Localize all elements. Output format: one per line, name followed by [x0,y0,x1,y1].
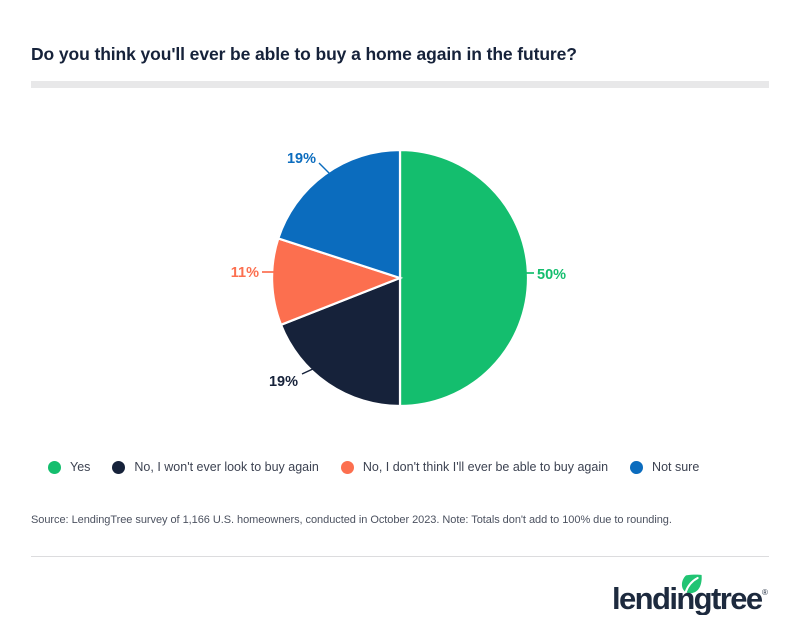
pie-label-yes: 50% [537,267,566,283]
legend-item-no-dont-think[interactable]: No, I don't think I'll ever be able to b… [341,461,608,474]
legend-swatch-icon-yes [48,461,61,474]
pie-leader-lines [262,163,534,379]
infographic-page: Do you think you'll ever be able to buy … [0,0,800,632]
lendingtree-logo-svg: lendingtree ® [612,573,772,615]
legend-label-no-dont-think: No, I don't think I'll ever be able to b… [363,461,608,474]
pie-label-no-wont-look: 19% [269,374,298,390]
logo-wordmark: lendingtree [612,581,763,615]
legend-item-no-wont-look[interactable]: No, I won't ever look to buy again [112,461,318,474]
pie-slice-no-dont-think[interactable] [272,238,400,324]
legend-label-not-sure: Not sure [652,461,699,474]
footer-divider [31,556,769,557]
legend-swatch-icon-no-wont-look [112,461,125,474]
pie-chart: 50% 19% 11% 19% [0,0,800,632]
header-divider [31,81,769,88]
leader-line-not-sure [319,163,334,178]
pie-slice-not-sure[interactable] [278,150,400,278]
page-title: Do you think you'll ever be able to buy … [31,44,577,65]
lendingtree-logo[interactable]: lendingtree ® [612,573,772,615]
pie-slice-no-wont-look[interactable] [281,278,400,406]
legend-swatch-icon-no-dont-think [341,461,354,474]
pie-slices [272,150,528,406]
legend-swatch-icon-not-sure [630,461,643,474]
pie-label-no-dont-think: 11% [231,265,259,281]
leader-line-no-wont-look [302,368,328,379]
pie-slice-yes[interactable] [400,150,528,406]
pie-chart-svg: 50% 19% 11% 19% [0,0,800,632]
legend-label-no-wont-look: No, I won't ever look to buy again [134,461,318,474]
legend-item-not-sure[interactable]: Not sure [630,461,699,474]
chart-legend: Yes No, I won't ever look to buy again N… [48,461,721,474]
logo-registered-mark: ® [762,588,768,597]
pie-value-labels: 50% 19% 11% 19% [231,151,566,390]
source-note: Source: LendingTree survey of 1,166 U.S.… [31,514,672,526]
legend-item-yes[interactable]: Yes [48,461,90,474]
legend-label-yes: Yes [70,461,90,474]
pie-label-not-sure: 19% [287,151,316,167]
